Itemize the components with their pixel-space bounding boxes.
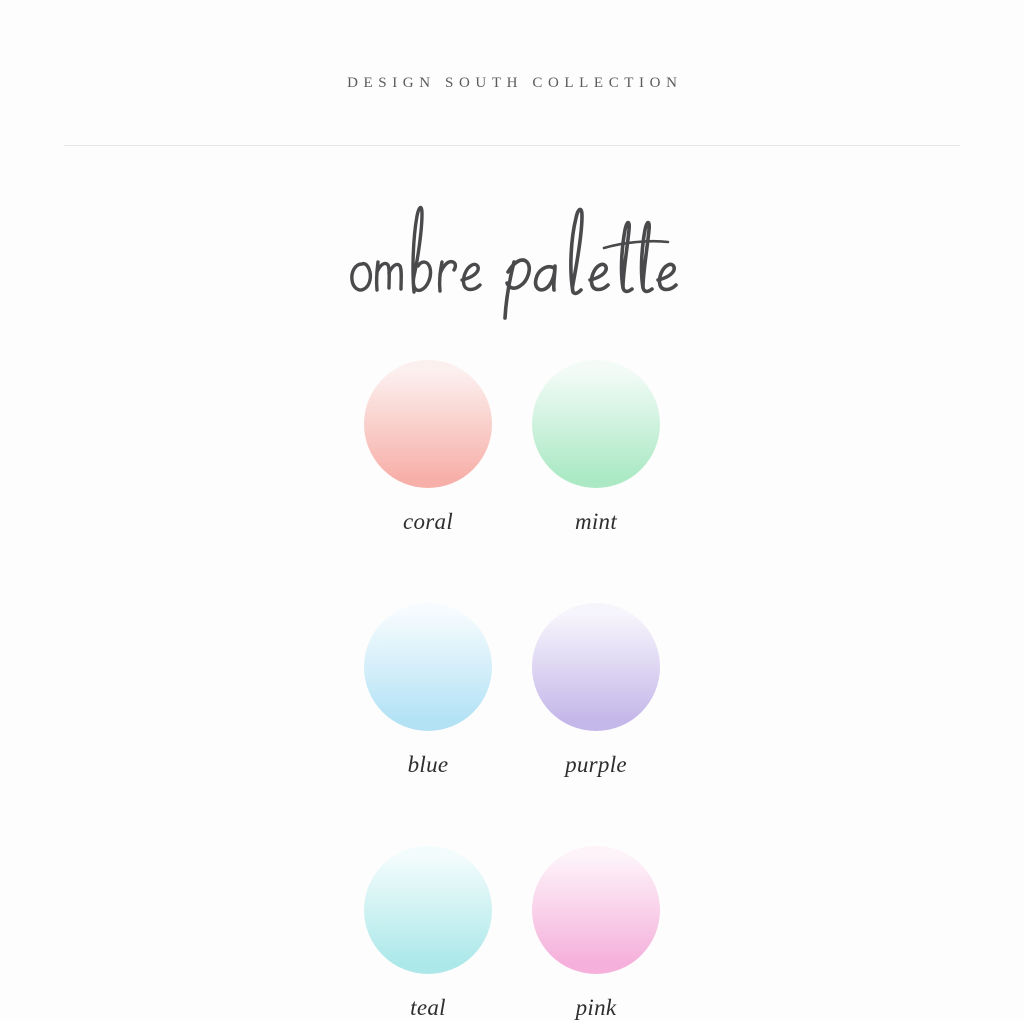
swatch-row: teal pink (354, 846, 670, 1019)
swatch-label-purple: purple (565, 753, 627, 776)
swatch-label-blue: blue (408, 753, 449, 776)
swatch-purple[interactable]: purple (522, 603, 670, 776)
swatch-circle-coral[interactable] (364, 360, 492, 488)
swatch-teal[interactable]: teal (354, 846, 502, 1019)
swatch-circle-mint[interactable] (532, 360, 660, 488)
swatch-circle-blue[interactable] (364, 603, 492, 731)
swatch-label-pink: pink (576, 996, 617, 1019)
swatch-coral[interactable]: coral (354, 360, 502, 533)
swatch-row: coral mint (354, 360, 670, 533)
palette-page: DESIGN SOUTH COLLECTION (0, 0, 1024, 998)
header-divider (64, 145, 960, 146)
swatch-grid: coral mint blue purple teal (0, 360, 1024, 1019)
brand-header-text: DESIGN SOUTH COLLECTION (341, 75, 682, 92)
swatch-blue[interactable]: blue (354, 603, 502, 776)
swatch-label-teal: teal (410, 996, 446, 1019)
swatch-row: blue purple (354, 603, 670, 776)
swatch-mint[interactable]: mint (522, 360, 670, 533)
swatch-circle-teal[interactable] (364, 846, 492, 974)
swatch-label-coral: coral (403, 510, 453, 533)
swatch-circle-pink[interactable] (532, 846, 660, 974)
swatch-pink[interactable]: pink (522, 846, 670, 1019)
page-title: ombre palette (0, 196, 1024, 336)
swatch-circle-purple[interactable] (532, 603, 660, 731)
brand-header: DESIGN SOUTH COLLECTION (0, 74, 1024, 92)
script-title-artwork (342, 196, 682, 326)
swatch-label-mint: mint (575, 510, 617, 533)
